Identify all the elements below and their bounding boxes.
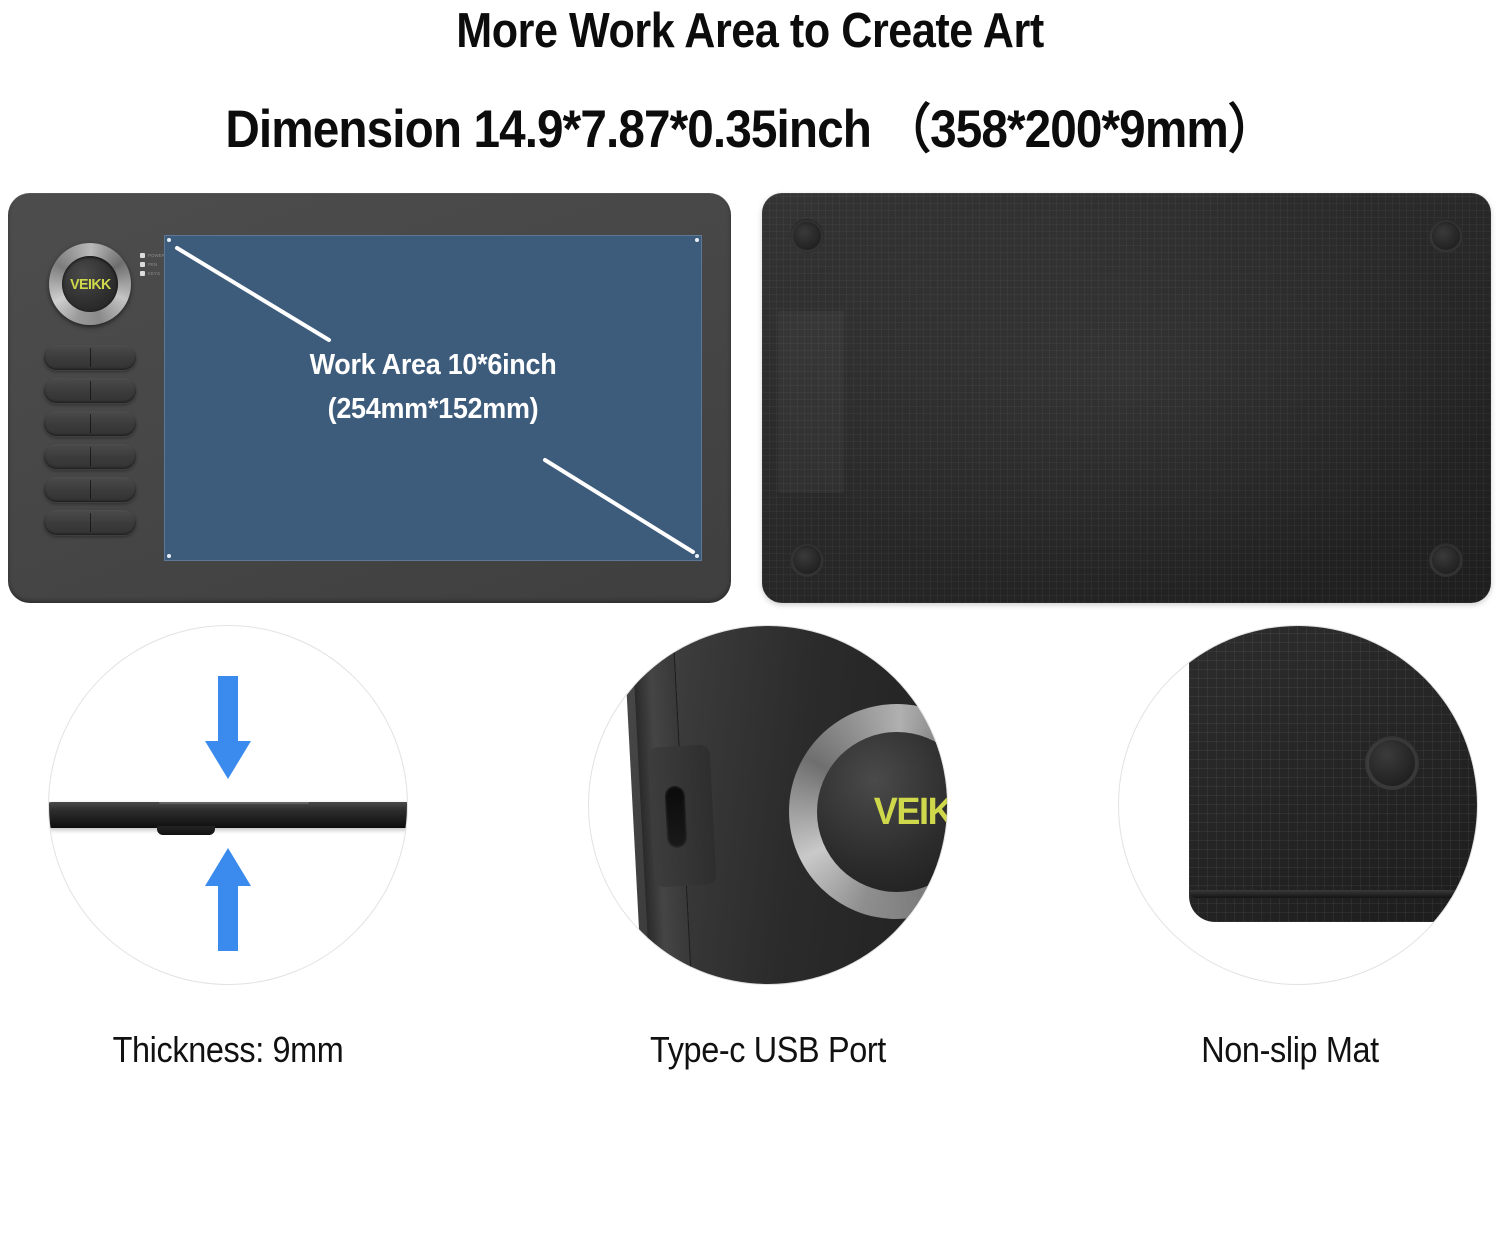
work-area-region: Work Area 10*6inch (254mm*152mm) (164, 235, 702, 561)
usb-c-slot-icon (664, 786, 687, 849)
detail-insets-row: VEIKK (0, 625, 1500, 1025)
express-key[interactable] (44, 510, 136, 535)
inset-thickness (48, 625, 408, 985)
veikk-logo: VEIKK (873, 791, 948, 834)
textured-back-surface (1189, 625, 1478, 922)
caption-non-slip-mat: Non-slip Mat (1083, 1029, 1497, 1071)
inset-non-slip-mat (1118, 625, 1478, 985)
dial-control[interactable]: VEIKK (49, 243, 131, 325)
mat-bottom-edge (1189, 890, 1478, 898)
back-label-patch (778, 311, 844, 493)
page-title: More Work Area to Create Art (90, 4, 1410, 59)
tablet-back-view (762, 193, 1491, 603)
express-key[interactable] (44, 345, 136, 370)
arrow-up-icon (205, 848, 251, 951)
diagonal-guide-lines (165, 236, 703, 562)
inset-usb-port: VEIKK (588, 625, 948, 985)
tablet-side-profile (48, 802, 408, 828)
express-key[interactable] (44, 411, 136, 436)
rubber-foot (1365, 736, 1419, 790)
express-keys-group (44, 345, 136, 543)
profile-foot (157, 826, 215, 835)
tablet-front-view: VEIKK POWER PEN KEYS (8, 193, 731, 603)
led-dot-icon (140, 262, 145, 267)
arrow-head (205, 741, 251, 779)
led-label: KEYS (148, 271, 160, 276)
rubber-foot (790, 219, 824, 253)
rubber-foot (1429, 543, 1463, 577)
express-key[interactable] (44, 378, 136, 403)
led-dot-icon (140, 253, 145, 258)
dimension-subtitle: Dimension 14.9*7.87*0.35inch （358*200*9m… (75, 101, 1425, 159)
express-key[interactable] (44, 477, 136, 502)
dial-inner-face: VEIKK (62, 256, 118, 312)
led-label: PEN (148, 262, 157, 267)
arrow-shaft (218, 886, 238, 951)
led-label: POWER (148, 253, 165, 258)
arrow-shaft (218, 676, 238, 741)
rubber-foot (790, 543, 824, 577)
inset-captions-row: Thickness: 9mm Type-c USB Port Non-slip … (0, 1029, 1500, 1089)
arrow-head (205, 848, 251, 886)
rubber-foot (1429, 219, 1463, 253)
led-dot-icon (140, 271, 145, 276)
headings-block: More Work Area to Create Art Dimension 1… (0, 0, 1500, 159)
caption-usb-port: Type-c USB Port (561, 1029, 975, 1071)
product-views-row: VEIKK POWER PEN KEYS (0, 183, 1500, 613)
veikk-logo: VEIKK (70, 276, 111, 293)
express-key[interactable] (44, 444, 136, 469)
caption-thickness: Thickness: 9mm (21, 1029, 435, 1071)
arrow-down-icon (205, 676, 251, 779)
